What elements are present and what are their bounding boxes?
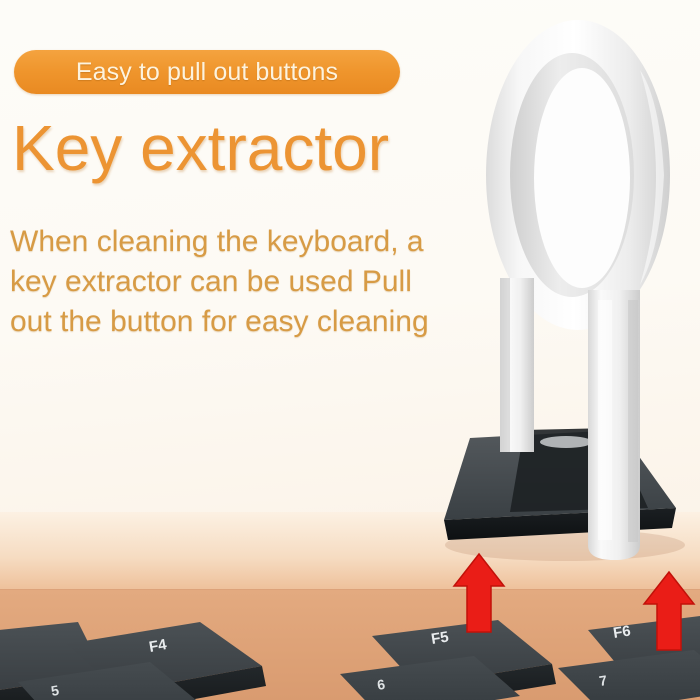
product-marketing-poster: F4 F5 F6 5 6 7 [0, 0, 700, 700]
description-line-1: When cleaning the keyboard, a [10, 222, 510, 262]
key-extractor-tool [0, 0, 700, 700]
keycap-legend-mark [540, 436, 592, 448]
arrow-left-up [452, 552, 506, 634]
tool-leg-right [588, 290, 640, 560]
tagline-badge: Easy to pull out buttons [14, 50, 400, 94]
description-block: When cleaning the keyboard, a key extrac… [10, 222, 510, 342]
description-line-3: out the button for easy cleaning [10, 302, 510, 342]
page-title: Key extractor [12, 116, 389, 180]
tagline-badge-label: Easy to pull out buttons [76, 58, 338, 87]
extracted-keycap [444, 428, 676, 540]
description-line-2: key extractor can be used Pull [10, 262, 510, 302]
arrow-right-up [642, 570, 696, 652]
